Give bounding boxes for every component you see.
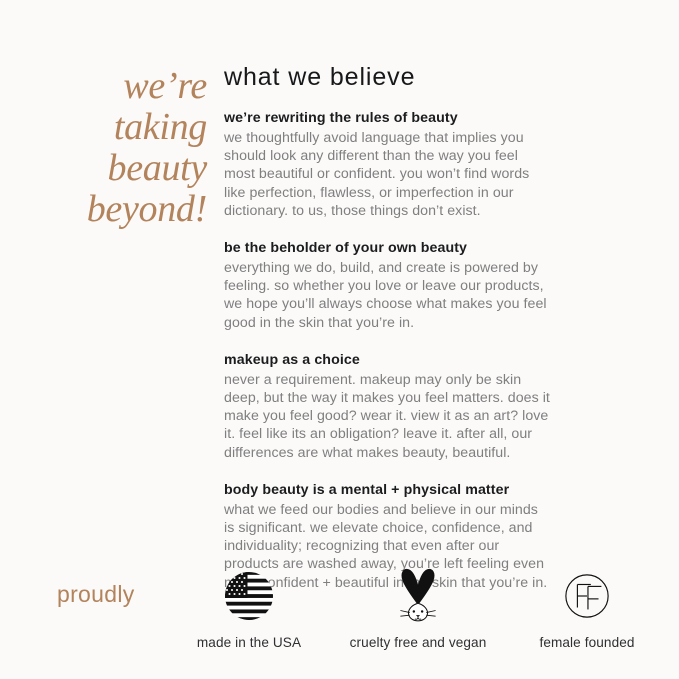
body-line: it. feel like its an obligation? leave i…	[224, 425, 635, 443]
two-column-layout: we’re taking beauty beyond! what we beli…	[0, 62, 679, 592]
body-line: deep, but the way it makes you feel matt…	[224, 389, 635, 407]
badge-caption: female founded	[539, 634, 634, 652]
body-line: we hope you’ll always choose what makes …	[224, 295, 635, 313]
body-line: should look any different than the way y…	[224, 147, 635, 165]
section-heading: be the beholder of your own beauty	[224, 239, 635, 258]
belief-section-makeup-choice: makeup as a choice never a requirement. …	[224, 351, 635, 462]
tagline-line-3: beauty	[0, 148, 207, 189]
proudly-badge-row: proudly	[0, 566, 679, 666]
section-heading: makeup as a choice	[224, 351, 635, 370]
belief-section-beholder: be the beholder of your own beauty every…	[224, 239, 635, 332]
proudly-label: proudly	[57, 580, 135, 608]
section-body: we thoughtfully avoid language that impl…	[224, 129, 635, 220]
body-line: everything we do, build, and create is p…	[224, 259, 635, 277]
badge-female-founded: female founded	[506, 566, 668, 652]
section-heading: body beauty is a mental + physical matte…	[224, 481, 635, 500]
badge-caption: made in the USA	[197, 634, 301, 652]
tagline-line-2: taking	[0, 107, 207, 148]
body-line: never a requirement. makeup may only be …	[224, 371, 635, 389]
body-line: differences are what makes beauty, beaut…	[224, 444, 635, 462]
ff-monogram-circle-icon	[563, 566, 611, 626]
brand-tagline: we’re taking beauty beyond!	[0, 62, 207, 230]
brand-values-page: we’re taking beauty beyond! what we beli…	[0, 0, 679, 679]
body-line: most beautiful or confident. you won’t f…	[224, 165, 635, 183]
what-we-believe-column: what we believe we’re rewriting the rule…	[207, 62, 679, 592]
content-area: we’re taking beauty beyond! what we beli…	[0, 62, 679, 592]
body-line: make you feel good? wear it. view it as …	[224, 407, 635, 425]
section-heading: we’re rewriting the rules of beauty	[224, 109, 635, 128]
page-title: what we believe	[224, 62, 635, 92]
badge-cruelty-free-vegan: cruelty free and vegan	[337, 566, 499, 652]
body-line: good in the skin that you’re in.	[224, 314, 635, 332]
body-line: feeling. so whether you love or leave ou…	[224, 277, 635, 295]
bunny-heart-cruelty-free-icon	[392, 566, 444, 626]
body-line: is significant. we elevate choice, confi…	[224, 519, 635, 537]
body-line: we thoughtfully avoid language that impl…	[224, 129, 635, 147]
tagline-line-4: beyond!	[0, 189, 207, 230]
section-body: never a requirement. makeup may only be …	[224, 371, 635, 462]
usa-flag-circle-icon	[224, 566, 274, 626]
tagline-line-1: we’re	[0, 66, 207, 107]
body-line: individuality; recognizing that even aft…	[224, 537, 635, 555]
body-line: dictionary. to us, those things don’t ex…	[224, 202, 635, 220]
section-body: everything we do, build, and create is p…	[224, 259, 635, 332]
body-line: like perfection, flawless, or imperfecti…	[224, 184, 635, 202]
body-line: what we feed our bodies and believe in o…	[224, 501, 635, 519]
belief-section-rewriting-rules: we’re rewriting the rules of beauty we t…	[224, 109, 635, 220]
badge-made-in-usa: made in the USA	[168, 566, 330, 652]
badges-group: made in the USA	[168, 566, 668, 652]
badge-caption: cruelty free and vegan	[350, 634, 487, 652]
